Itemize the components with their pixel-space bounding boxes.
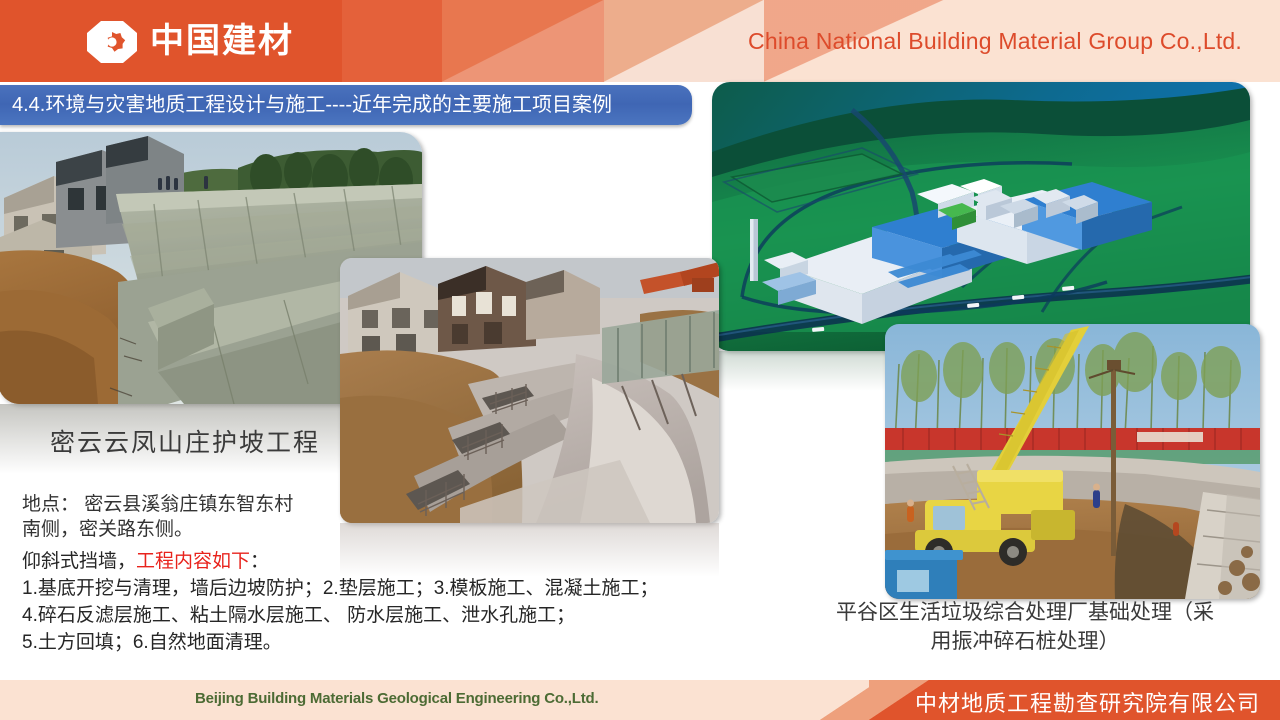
content-lead-highlight: 工程内容如下 — [136, 551, 250, 572]
location-line-2: 南侧，密关路东侧。 — [22, 517, 293, 542]
project-location: 地点： 密云县溪翁庄镇东智东村 南侧，密关路东侧。 — [22, 492, 293, 542]
content-lead-line: 仰斜式挡墙，工程内容如下： — [22, 548, 659, 575]
waste-plant-3d-render — [712, 82, 1250, 351]
octagon-flower-logo-icon — [86, 20, 138, 64]
header-diagonal-2 — [604, 0, 764, 82]
footer-company-chinese: 中材地质工程勘查研究院有限公司 — [915, 686, 1260, 718]
slide-footer: Beijing Building Materials Geological En… — [0, 680, 1280, 720]
brand-name-english: China National Building Material Group C… — [748, 28, 1242, 55]
section-title-text: 4.4.环境与灾害地质工程设计与施工----近年完成的主要施工项目案例 — [12, 91, 684, 119]
content-line-1: 1.基底开挖与清理，墙后边坡防护；2.垫层施工；3.模板施工、混凝土施工； — [22, 575, 659, 602]
header-band-2 — [342, 0, 442, 82]
villa-site-excavation-photo — [340, 258, 719, 523]
content-lead-colon: ： — [250, 551, 269, 572]
project-content-list: 仰斜式挡墙，工程内容如下： 1.基底开挖与清理，墙后边坡防护；2.垫层施工；3.… — [22, 548, 659, 656]
caption-line-1: 平谷区生活垃圾综合处理厂基础处理（采 — [790, 598, 1260, 627]
content-lead-text: 仰斜式挡墙， — [22, 551, 136, 572]
brand-name-chinese: 中国建材 — [150, 18, 294, 64]
location-line-1: 地点： 密云县溪翁庄镇东智东村 — [22, 492, 293, 517]
project-title: 密云云凤山庄护坡工程 — [50, 423, 320, 459]
header-diagonal-1 — [442, 0, 604, 82]
footer-company-english: Beijing Building Materials Geological En… — [195, 690, 598, 707]
slide-canvas: 中国建材 China National Building Material Gr… — [0, 0, 1280, 720]
content-line-2: 4.碎石反滤层施工、粘土隔水层施工、 防水层施工、泄水孔施工； — [22, 602, 659, 629]
right-photo-caption: 平谷区生活垃圾综合处理厂基础处理（采 用振冲碎石桩处理） — [790, 598, 1260, 656]
content-line-3: 5.土方回填；6.自然地面清理。 — [22, 629, 659, 656]
caption-line-2: 用振冲碎石桩处理） — [790, 627, 1260, 656]
crane-gravel-pile-photo — [885, 324, 1260, 599]
section-title-bar: 4.4.环境与灾害地质工程设计与施工----近年完成的主要施工项目案例 — [0, 85, 692, 125]
slide-header: 中国建材 China National Building Material Gr… — [0, 0, 1280, 82]
